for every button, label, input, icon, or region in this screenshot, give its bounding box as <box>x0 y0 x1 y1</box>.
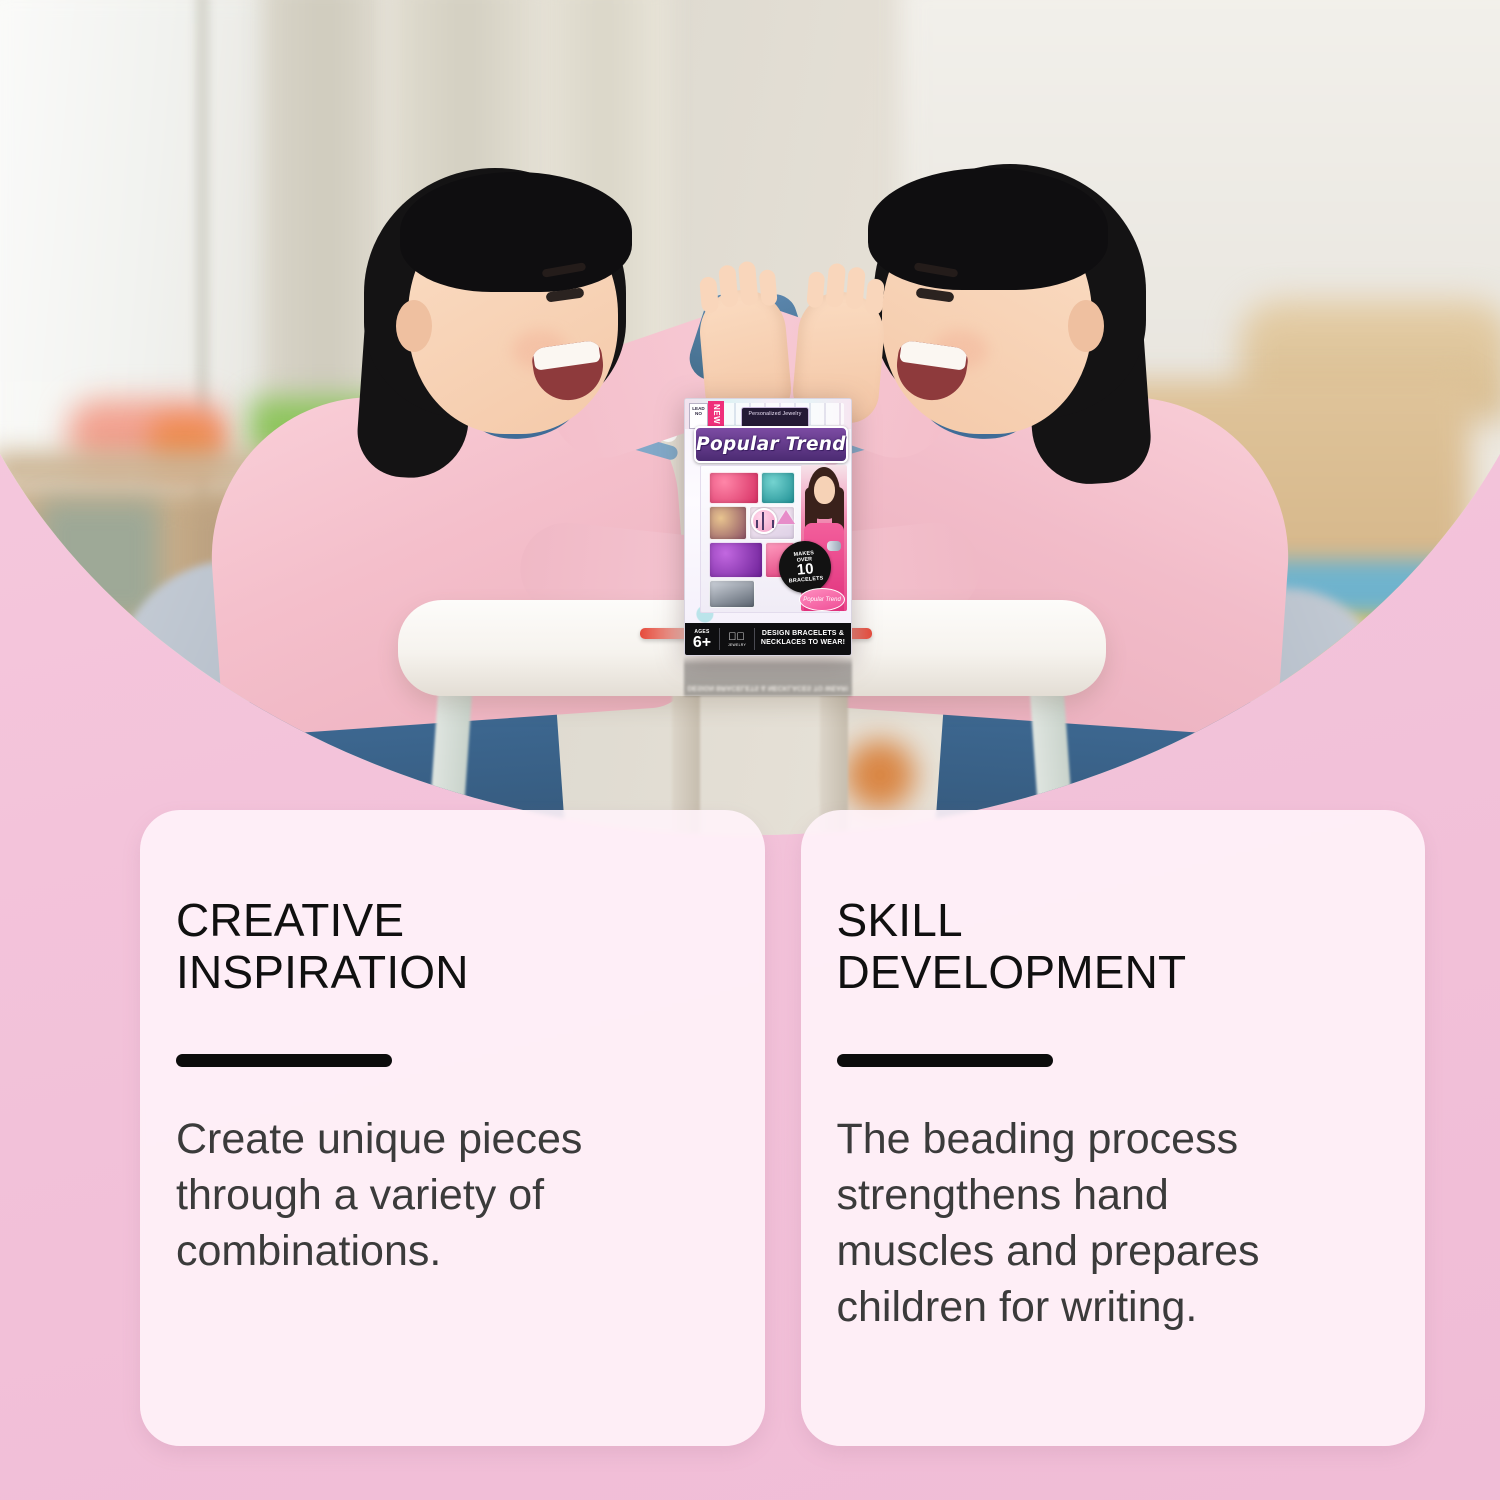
reflection-tagline: DESIGN BRACELETS & NECKLACES TO WEAR! <box>684 682 852 696</box>
orange-blob <box>845 740 915 810</box>
peace-sign-charm-icon <box>751 508 777 534</box>
product-title: Popular Trend <box>696 428 846 461</box>
compartment-silver-beads <box>709 580 755 608</box>
model-face <box>814 476 835 504</box>
heart-necklace-icon: ♡⃝ <box>728 632 746 643</box>
makes-line4: BRACELETS <box>789 575 824 584</box>
ages-value: 6+ <box>685 635 719 650</box>
ages-block: AGES 6+ <box>685 629 719 650</box>
makes-number: 10 <box>796 562 814 577</box>
compartment-purple-beads <box>709 542 763 578</box>
card-body-skill-development: The beading process strengthens hand mus… <box>837 1111 1307 1335</box>
ear <box>396 300 432 352</box>
bangs <box>868 168 1108 290</box>
model-bracelet <box>827 541 841 551</box>
compartment-mixed-beads <box>709 506 747 540</box>
product-feature-banner: DESIGN BRACELETS & NECKLACES TO WEAR! LE… <box>0 0 1500 1500</box>
card-body-creative-inspiration: Create unique pieces through a variety o… <box>176 1111 636 1279</box>
new-badge: NEW <box>708 401 724 427</box>
card-divider-rule <box>837 1054 1053 1067</box>
card-divider-rule <box>176 1054 392 1067</box>
product-box-reflection: DESIGN BRACELETS & NECKLACES TO WEAR! <box>684 656 852 696</box>
compartment-teal-beads <box>761 472 795 504</box>
card-title-creative-inspiration: CREATIVE INSPIRATION <box>176 894 765 998</box>
feature-card-creative-inspiration: CREATIVE INSPIRATION Create unique piece… <box>140 810 765 1446</box>
bangs <box>400 172 632 292</box>
title-plate: Popular Trend <box>694 426 848 463</box>
jewelry-icon-label: JEWELRY <box>728 643 746 647</box>
compartment-pink-beads <box>709 472 759 504</box>
ear <box>1068 300 1104 352</box>
jewelry-icon-block: ♡⃝ JEWELRY <box>719 628 755 650</box>
card-title-skill-development: SKILL DEVELOPMENT <box>837 894 1426 998</box>
product-box: LEAD NO NEW Personalized Jewelry Popular… <box>684 398 852 656</box>
box-tagline: DESIGN BRACELETS & NECKLACES TO WEAR! <box>755 630 851 647</box>
feature-card-skill-development: SKILL DEVELOPMENT The beading process st… <box>801 810 1426 1446</box>
brand-signature: Popular Trend <box>799 588 845 611</box>
star-charm-icon <box>777 510 795 524</box>
feature-cards: CREATIVE INSPIRATION Create unique piece… <box>140 810 1425 1446</box>
box-bottom-banner: AGES 6+ ♡⃝ JEWELRY DESIGN BRACELETS & NE… <box>685 623 851 655</box>
